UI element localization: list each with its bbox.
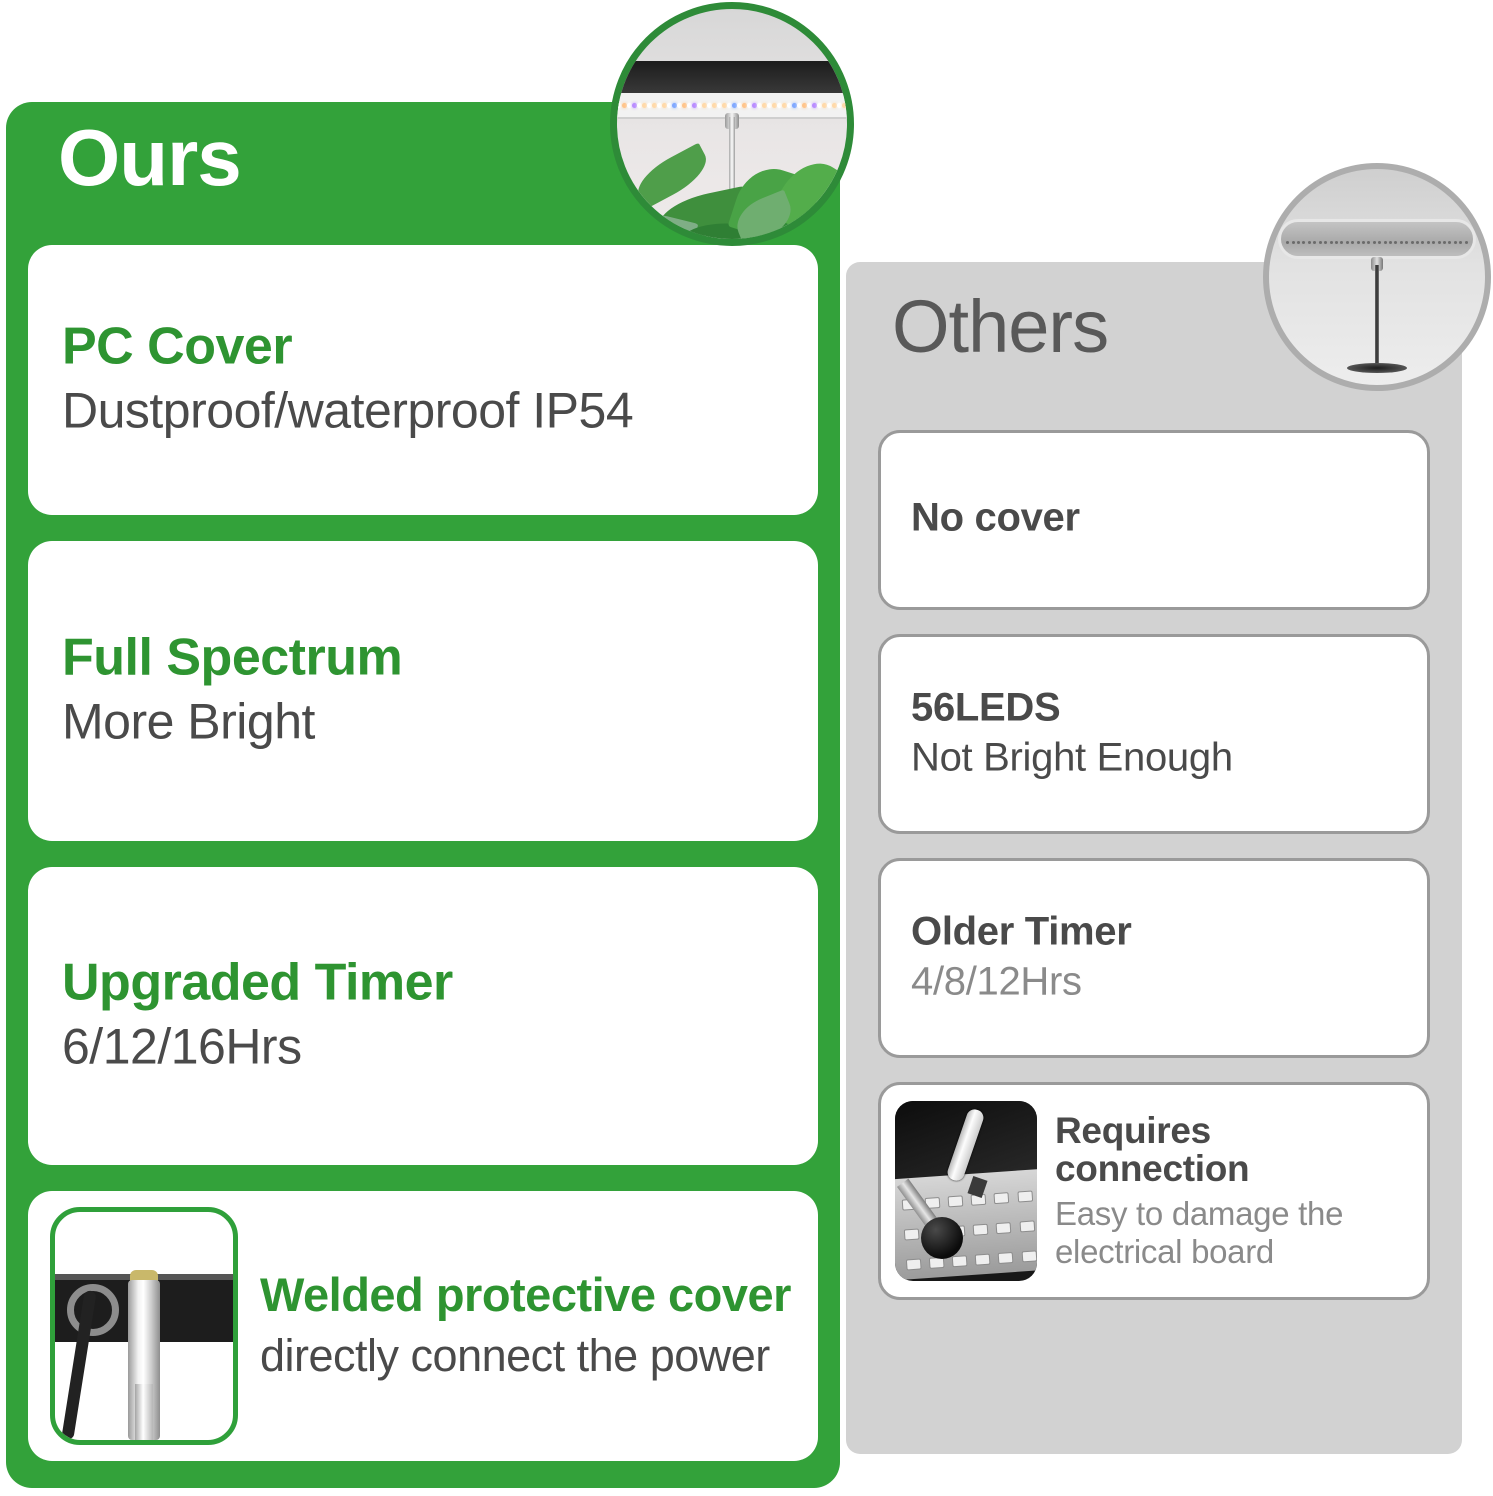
others-card-56leds: 56LEDS Not Bright Enough [878,634,1430,834]
others-card-heading: 56LEDS [911,686,1401,729]
others-card-heading: Requires connection [1055,1112,1411,1188]
others-card-no-cover: No cover [878,430,1430,610]
ours-card-sub: Dustproof/waterproof IP54 [62,381,784,442]
ours-card-sub: More Bright [62,692,784,753]
others-card-requires-connection: Requires connection Easy to damage the e… [878,1082,1430,1300]
ours-card-welded-cover: Welded protective cover directly connect… [28,1191,818,1461]
others-title: Others [892,290,1108,364]
ours-card-upgraded-timer: Upgraded Timer 6/12/16Hrs [28,867,818,1165]
ours-card-heading: Full Spectrum [62,629,784,685]
ours-card-sub: directly connect the power [260,1330,796,1381]
ours-title: Ours [58,118,241,198]
others-card-sub: 4/8/12Hrs [911,958,1401,1006]
others-card-list: No cover 56LEDS Not Bright Enough Older … [878,430,1430,1300]
ours-panel: Ours PC Cover Dustproof/waterproof IP54 … [6,102,840,1488]
others-product-photo-circle [1263,163,1491,391]
ours-card-heading: PC Cover [62,318,784,374]
others-card-older-timer: Older Timer 4/8/12Hrs [878,858,1430,1058]
others-card-heading: Older Timer [911,910,1401,953]
ours-card-heading: Welded protective cover [260,1271,796,1320]
others-card-sub: Not Bright Enough [911,734,1401,782]
others-card-sub: Easy to damage the electrical board [1055,1195,1411,1270]
ours-product-photo-circle [610,2,854,246]
ours-card-sub: 6/12/16Hrs [62,1017,784,1078]
ours-card-pc-cover: PC Cover Dustproof/waterproof IP54 [28,245,818,515]
ours-card-list: PC Cover Dustproof/waterproof IP54 Full … [28,245,818,1461]
others-card-heading: No cover [911,496,1401,539]
welded-cover-photo [50,1207,238,1445]
ours-card-heading: Upgraded Timer [62,954,784,1010]
comparison-infographic: Ours PC Cover Dustproof/waterproof IP54 … [0,0,1493,1496]
ours-card-full-spectrum: Full Spectrum More Bright [28,541,818,841]
led-board-connector-photo [895,1101,1037,1281]
others-panel: Others No cover 56LEDS Not Bright Enough… [846,262,1462,1454]
